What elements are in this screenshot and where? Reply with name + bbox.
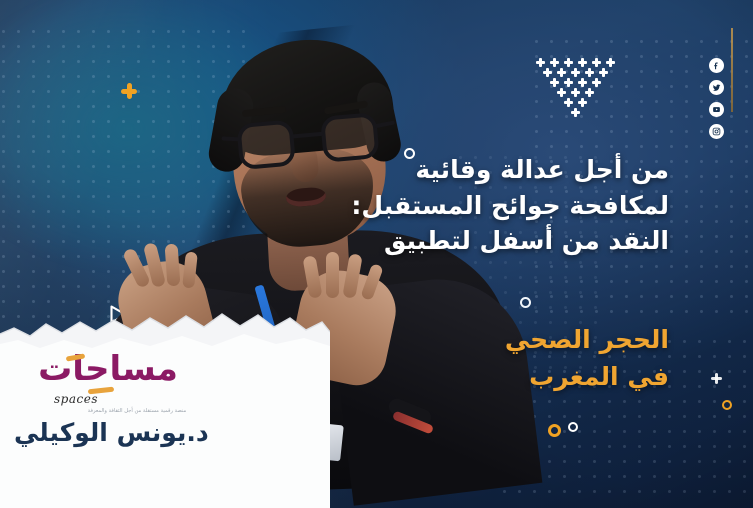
facebook-icon[interactable] xyxy=(709,58,724,73)
logo-tagline: منصة رقمية مستقلة من أجل الثقافة والمعرف… xyxy=(62,408,212,414)
logo-arabic-wordmark: مساحات xyxy=(8,352,208,386)
headline-line: من أجل عدالة وقائية xyxy=(249,152,669,188)
photo-finger xyxy=(165,244,181,287)
brand-logo[interactable]: مساحات spaces منصة رقمية مستقلة من أجل ا… xyxy=(8,352,208,414)
poster-canvas: مساحات spaces منصة رقمية مستقلة من أجل ا… xyxy=(0,0,753,508)
speaker-name: د.يونس الوكيلي xyxy=(14,418,209,447)
social-links[interactable] xyxy=(709,58,724,139)
logo-latin-wordmark: spaces xyxy=(54,392,98,406)
subheadline-block: الحجر الصحي في المغرب xyxy=(369,322,669,395)
twitter-icon[interactable] xyxy=(709,80,724,95)
headline-block: من أجل عدالة وقائية لمكافحة جوائح المستق… xyxy=(249,152,669,259)
headline-line: لمكافحة جوائح المستقبل: xyxy=(249,188,669,224)
photo-finger xyxy=(326,252,339,298)
glasses-temple-left xyxy=(221,136,239,141)
instagram-icon[interactable] xyxy=(709,124,724,139)
subheadline-line: الحجر الصحي xyxy=(369,322,669,359)
subheadline-line: في المغرب xyxy=(369,359,669,396)
youtube-icon[interactable] xyxy=(709,102,724,117)
headline-line: النقد من أسفل لتطبيق xyxy=(249,223,669,259)
glasses-bridge xyxy=(291,132,323,139)
